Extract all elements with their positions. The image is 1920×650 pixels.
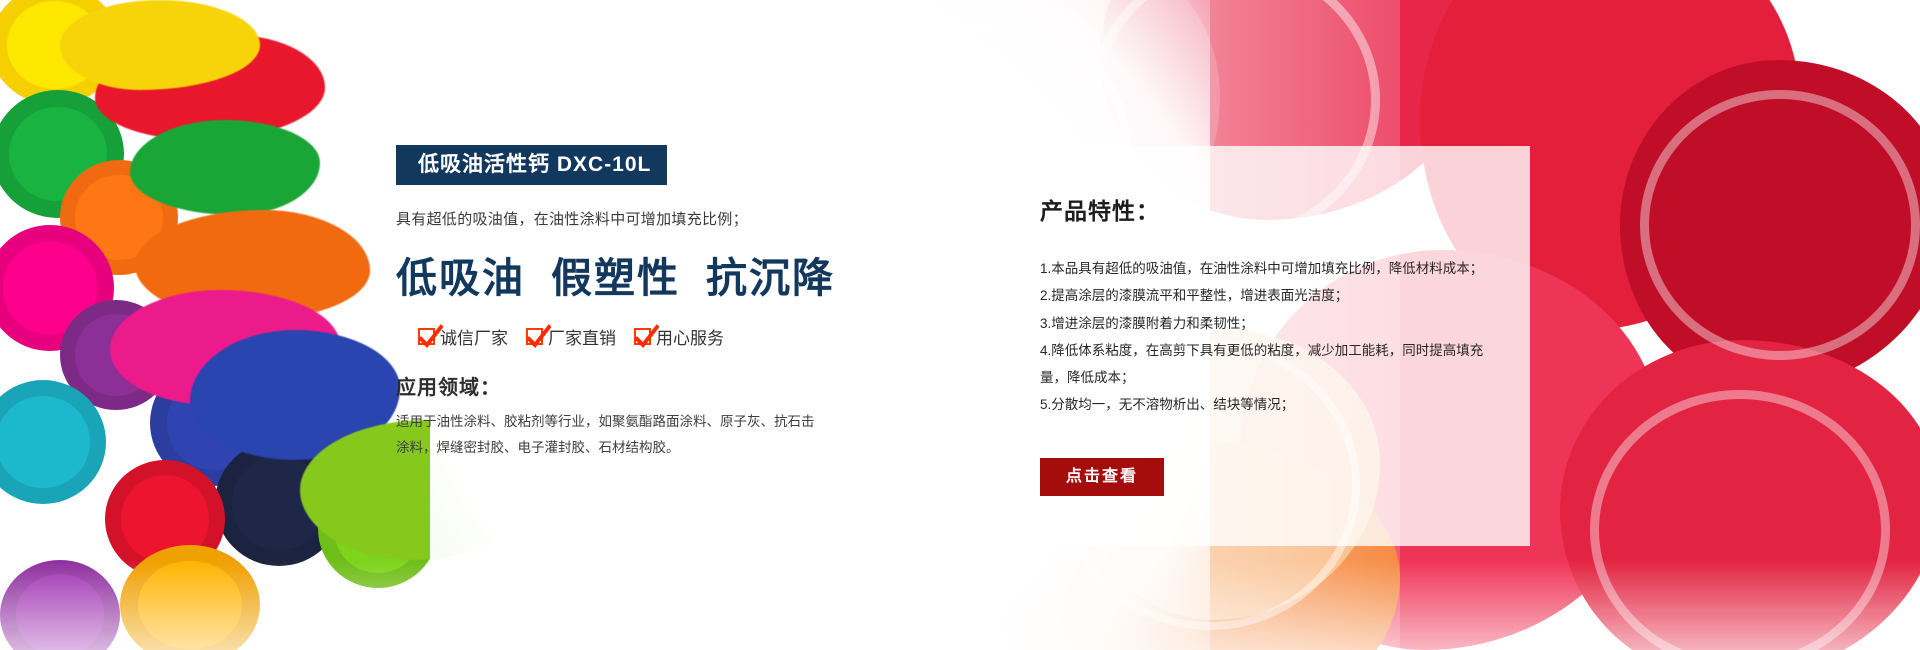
application-section-title: 应用领域： bbox=[396, 371, 826, 400]
headline-word-2: 假塑性 bbox=[551, 255, 680, 301]
paint-can-rim-right bbox=[1640, 90, 1920, 360]
feature-badge-3-label: 用心服务 bbox=[656, 324, 724, 349]
product-title-badge: 低吸油活性钙 DXC-10L bbox=[396, 145, 667, 185]
feature-badge-3: 用心服务 bbox=[634, 324, 724, 349]
list-item: 4.降低体系粘度，在高剪下具有更低的粘度，减少加工能耗，同时提高填充量，降低成本… bbox=[1040, 337, 1490, 392]
headline-word-3: 抗沉降 bbox=[706, 255, 835, 301]
feature-badge-2: 厂家直销 bbox=[526, 324, 616, 349]
feature-badge-1-label: 诚信厂家 bbox=[440, 324, 508, 349]
product-subtitle: 具有超低的吸油值，在油性涂料中可增加填充比例； bbox=[396, 208, 826, 229]
headline-word-1: 低吸油 bbox=[396, 255, 525, 301]
headline: 低吸油假塑性抗沉降 bbox=[396, 244, 826, 304]
feature-badge-2-label: 厂家直销 bbox=[548, 324, 616, 349]
promo-banner: 低吸油活性钙 DXC-10L 具有超低的吸油值，在油性涂料中可增加填充比例； 低… bbox=[0, 0, 1920, 650]
background-artwork bbox=[0, 0, 1920, 650]
checkbox-checked-icon bbox=[634, 328, 651, 345]
paint-smear-green bbox=[130, 120, 320, 215]
checkbox-checked-icon bbox=[418, 328, 435, 345]
list-item: 3.增进涂层的漆膜附着力和柔韧性； bbox=[1040, 310, 1490, 337]
application-description: 适用于油性涂料、胶粘剂等行业，如聚氨酯路面涂料、原子灰、抗石击涂料，焊缝密封胶、… bbox=[396, 409, 816, 462]
list-item: 2.提高涂层的漆膜流平和平整性，增进表面光洁度； bbox=[1040, 282, 1490, 309]
feature-list: 1.本品具有超低的吸油值，在油性涂料中可增加填充比例，降低材料成本； 2.提高涂… bbox=[1040, 255, 1490, 419]
list-item: 1.本品具有超低的吸油值，在油性涂料中可增加填充比例，降低材料成本； bbox=[1040, 255, 1490, 282]
feature-badges-row: 诚信厂家 厂家直销 用心服务 bbox=[418, 324, 826, 349]
feature-badge-1: 诚信厂家 bbox=[418, 324, 508, 349]
click-to-view-button[interactable]: 点击查看 bbox=[1040, 458, 1164, 496]
checkbox-checked-icon bbox=[526, 328, 543, 345]
left-content-column: 低吸油活性钙 DXC-10L 具有超低的吸油值，在油性涂料中可增加填充比例； 低… bbox=[396, 145, 826, 462]
panel-title: 产品特性： bbox=[1040, 192, 1490, 226]
product-features-panel: 产品特性： 1.本品具有超低的吸油值，在油性涂料中可增加填充比例，降低材料成本；… bbox=[1000, 146, 1530, 546]
list-item: 5.分散均一，无不溶物析出、结块等情况； bbox=[1040, 391, 1490, 418]
